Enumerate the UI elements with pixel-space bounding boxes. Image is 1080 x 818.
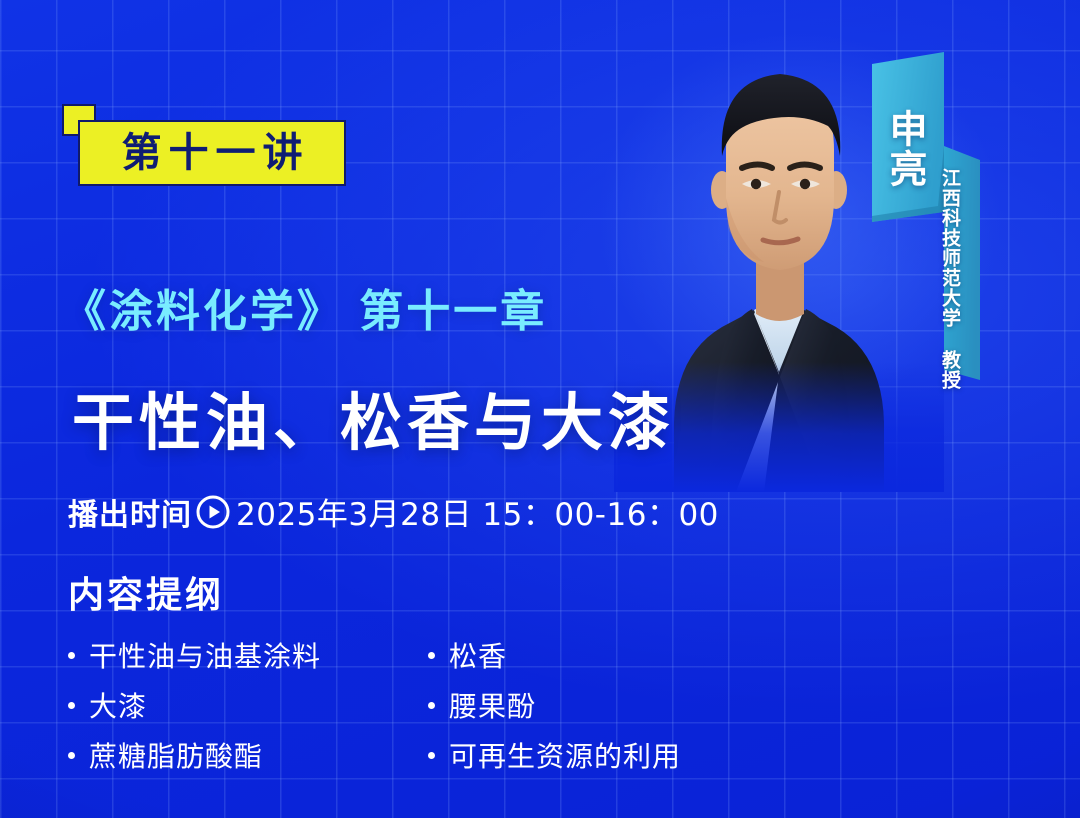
lecture-poster: 申亮 江西科技师范大学 教授 第十一讲 《涂料化学》 第十一章 干性油、松香与大… — [0, 0, 1080, 818]
speaker-ribbon: 申亮 江西科技师范大学 教授 — [866, 50, 992, 400]
list-item: 腰果酚 — [428, 685, 748, 725]
list-item: 干性油与油基涂料 — [68, 635, 428, 675]
airtime-row: 播出时间 2025年3月28日 15：00-16：00 — [68, 489, 719, 534]
bullet-icon — [68, 652, 75, 659]
badge-label: 第十一讲 — [115, 133, 310, 173]
chapter-subtitle: 《涂料化学》 第十一章 — [62, 286, 547, 339]
page-title: 干性油、松香与大漆 — [72, 388, 675, 459]
speaker-affiliation: 江西科技师范大学 教授 — [926, 168, 960, 418]
list-item: 大漆 — [68, 685, 428, 725]
list-item-label: 蔗糖脂肪酸酯 — [89, 735, 263, 775]
list-item-label: 松香 — [449, 635, 507, 675]
list-item-label: 干性油与油基涂料 — [89, 635, 321, 675]
outline-list: 干性油与油基涂料 松香 大漆 腰果酚 蔗糖脂肪酸酯 可再生资源的利用 — [68, 630, 748, 780]
bullet-icon — [428, 652, 435, 659]
outline-heading: 内容提纲 — [68, 566, 224, 618]
airtime-value: 2025年3月28日 15：00-16：00 — [236, 489, 719, 534]
bullet-icon — [428, 702, 435, 709]
bullet-icon — [68, 752, 75, 759]
bullet-icon — [428, 752, 435, 759]
bullet-icon — [68, 702, 75, 709]
airtime-label: 播出时间 — [68, 490, 192, 534]
list-item-label: 可再生资源的利用 — [449, 735, 681, 775]
list-item: 可再生资源的利用 — [428, 735, 748, 775]
list-item-label: 腰果酚 — [449, 685, 536, 725]
list-item-label: 大漆 — [89, 685, 147, 725]
play-circle-icon — [196, 495, 230, 529]
list-item: 蔗糖脂肪酸酯 — [68, 735, 428, 775]
list-item: 松香 — [428, 635, 748, 675]
badge-body: 第十一讲 — [78, 120, 346, 186]
